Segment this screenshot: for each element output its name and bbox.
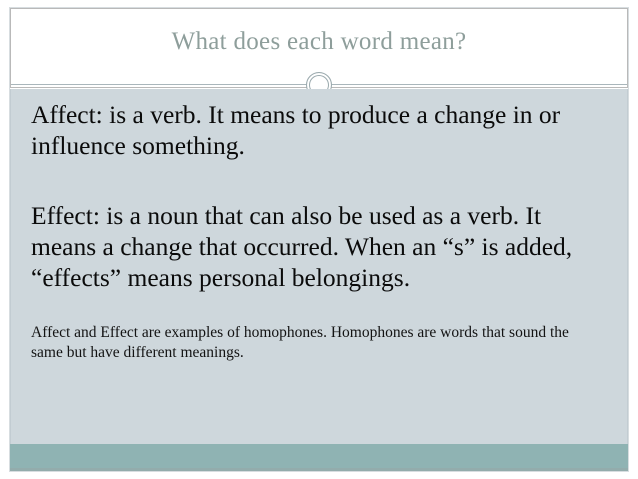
slide-title: What does each word mean? (11, 27, 627, 57)
presentation-slide: What does each word mean? Affect: is a v… (0, 0, 638, 479)
paragraph-effect-definition: Effect: is a noun that can also be used … (31, 200, 597, 293)
slide-footer-band (10, 444, 628, 471)
paragraph-affect-definition: Affect: is a verb. It means to produce a… (31, 99, 597, 161)
header-divider (11, 84, 627, 85)
slide-body-panel: Affect: is a verb. It means to produce a… (10, 89, 628, 444)
footer-band-shade (10, 468, 628, 471)
paragraph-homophones-note: Affect and Effect are examples of homoph… (31, 323, 597, 363)
slide-content: Affect: is a verb. It means to produce a… (31, 99, 597, 363)
